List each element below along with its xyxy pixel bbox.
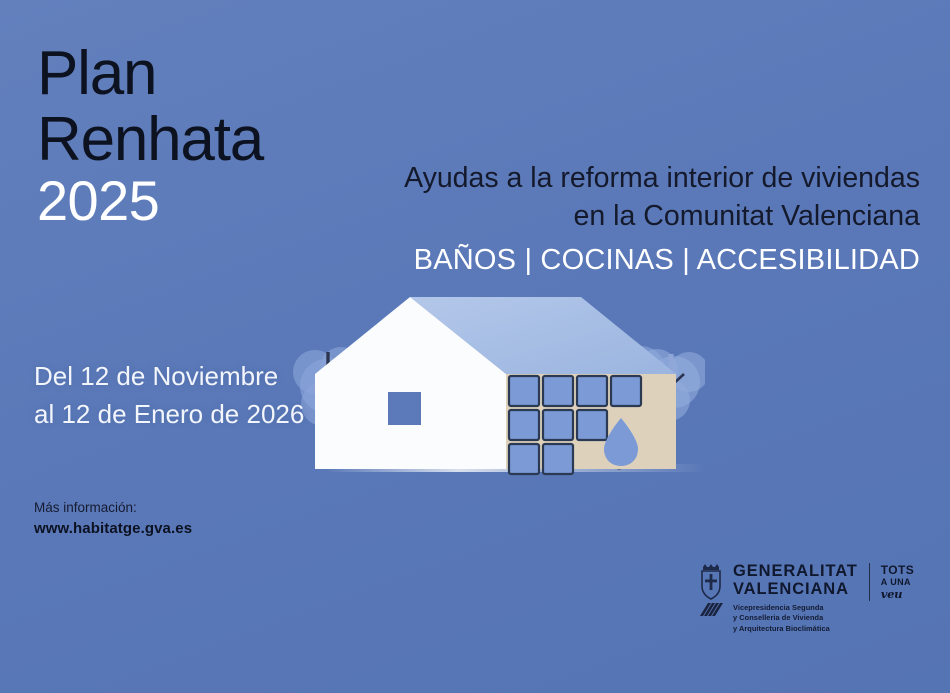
headline-line-2: en la Comunitat Valenciana xyxy=(320,198,920,236)
poster-canvas: Plan Renhata 2025 Ayudas a la reforma in… xyxy=(0,0,950,693)
gva-generalitat: GENERALITAT xyxy=(733,562,858,580)
more-info-label: Más información: xyxy=(34,498,192,518)
gable-window xyxy=(388,392,421,425)
dates-block: Del 12 de Noviembre al 12 de Enero de 20… xyxy=(34,358,304,433)
headline-block: Ayudas a la reforma interior de vivienda… xyxy=(320,160,920,278)
gva-department-line-2: y Conselleria de Vivienda xyxy=(733,613,858,624)
gva-logo-text: GENERALITAT VALENCIANA Vicepresidencia S… xyxy=(733,562,914,634)
title-line-plan: Plan xyxy=(37,44,377,104)
gva-department: Vicepresidencia Segunda y Conselleria de… xyxy=(733,603,858,635)
date-end: al 12 de Enero de 2026 xyxy=(34,396,304,434)
logo-divider xyxy=(869,563,870,601)
slogan-line-1: TOTS xyxy=(881,564,914,577)
more-info-url[interactable]: www.habitatge.gva.es xyxy=(34,518,192,540)
house-illustration xyxy=(285,278,705,493)
gva-logo: GENERALITAT VALENCIANA Vicepresidencia S… xyxy=(698,562,918,640)
more-info-block: Más información: www.habitatge.gva.es xyxy=(34,498,192,540)
gva-department-line-1: Vicepresidencia Segunda xyxy=(733,603,858,614)
gva-valenciana: VALENCIANA xyxy=(733,580,858,598)
headline-categories: BAÑOS | COCINAS | ACCESIBILIDAD xyxy=(320,242,920,278)
gva-slogan: TOTS A UNA veu xyxy=(881,562,914,600)
slogan-line-2: A UNA xyxy=(881,577,914,587)
gva-names: GENERALITAT VALENCIANA Vicepresidencia S… xyxy=(733,562,858,634)
gva-department-line-3: y Arquitectura Bioclimática xyxy=(733,624,858,635)
slogan-line-3: veu xyxy=(881,588,914,600)
date-start: Del 12 de Noviembre xyxy=(34,358,304,396)
headline-line-1: Ayudas a la reforma interior de vivienda… xyxy=(320,160,920,198)
tile-grid-lower xyxy=(509,412,539,440)
gva-coat-of-arms-icon xyxy=(698,564,724,621)
